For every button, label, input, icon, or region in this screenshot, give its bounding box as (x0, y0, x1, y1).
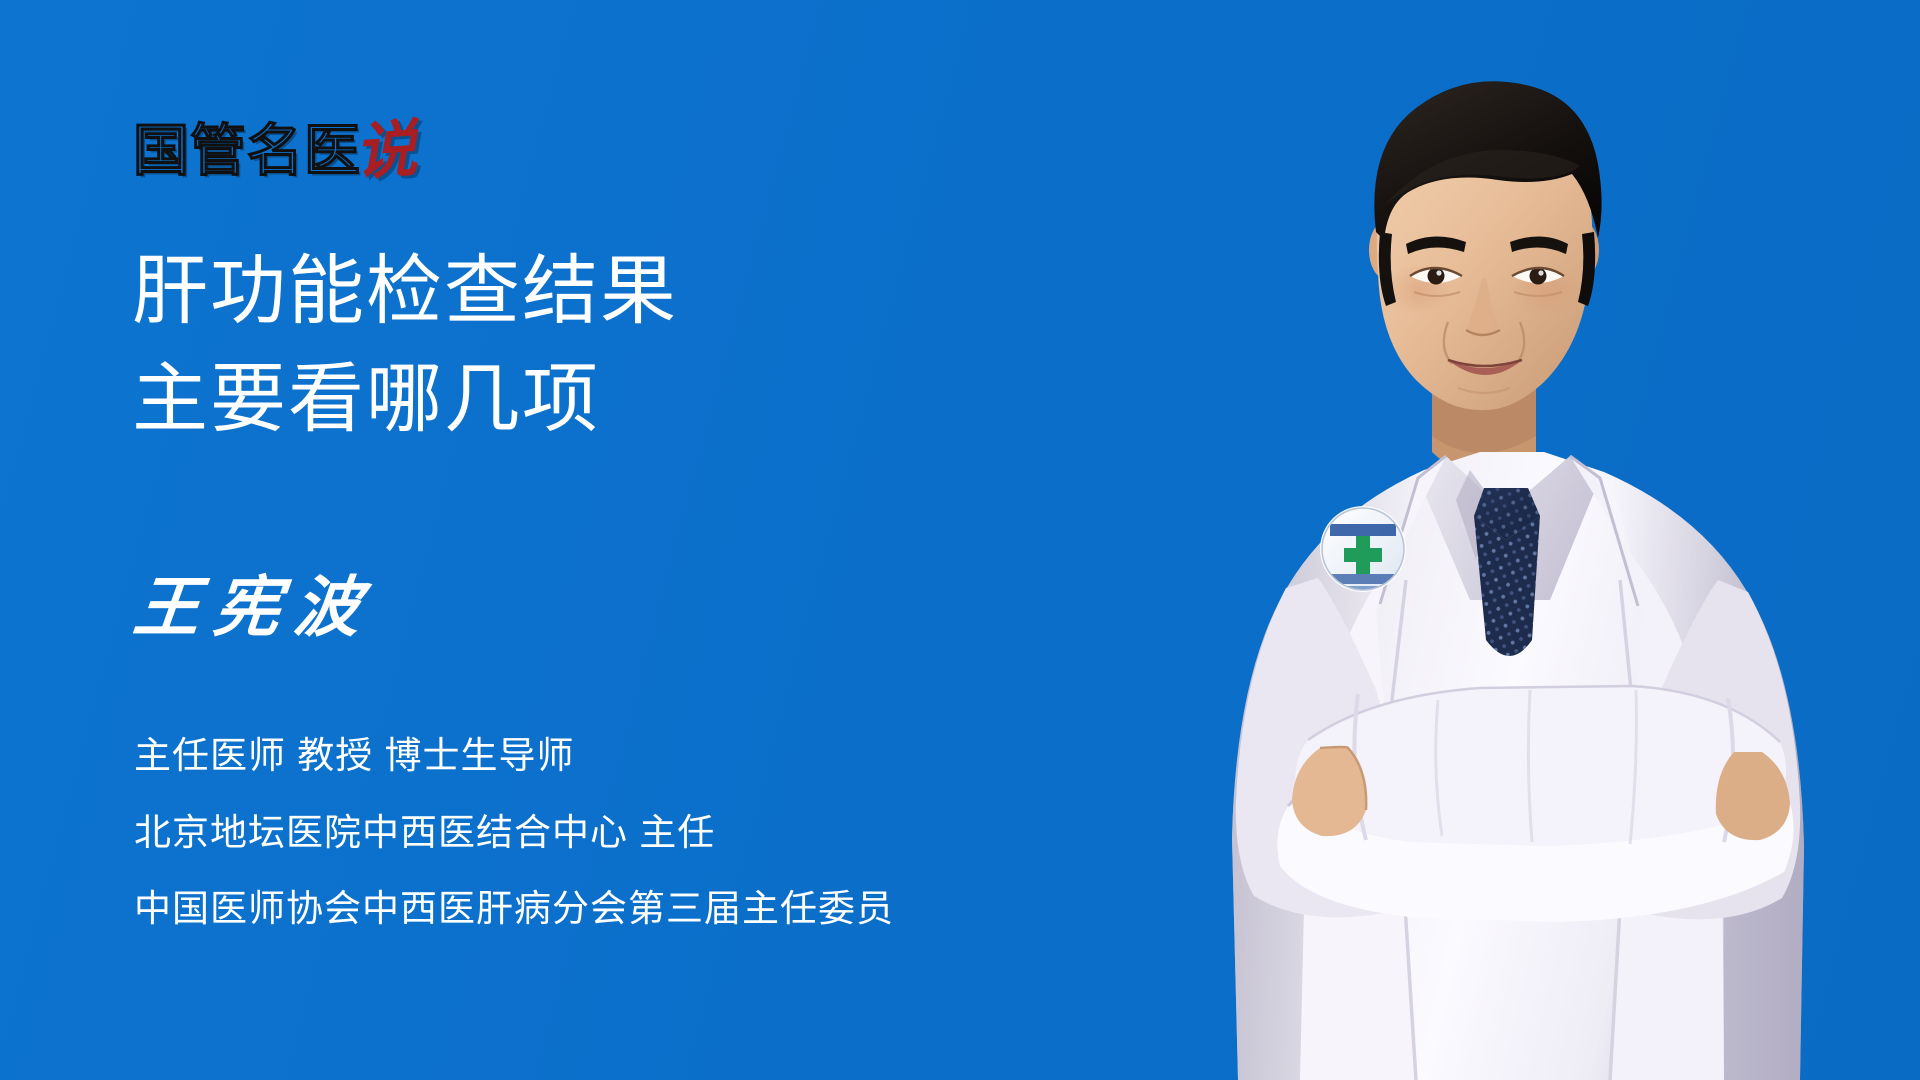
headline-line-1: 肝功能检查结果 (132, 238, 1112, 346)
video-title-card: 国管名医 说 肝功能检查结果 主要看哪几项 王宪波 主任医师 教授 博士生导师 … (0, 0, 1920, 1080)
doctor-portrait-illustration (1180, 0, 1920, 1080)
credential-line-3: 中国医师协会中西医肝病分会第三届主任委员 (134, 871, 1194, 948)
brand-logo-main-text: 国管名医 (133, 124, 363, 180)
headline: 肝功能检查结果 主要看哪几项 (132, 238, 1112, 454)
credential-line-2: 北京地坛医院中西医结合中心 主任 (134, 795, 1194, 872)
headline-line-2: 主要看哪几项 (132, 346, 1112, 454)
brand-logo-accent-text: 说 (353, 118, 419, 184)
credential-line-1: 主任医师 教授 博士生导师 (134, 718, 1194, 795)
brand-logo: 国管名医 说 (133, 108, 419, 180)
doctor-portrait (1180, 0, 1920, 1080)
doctor-name: 王宪波 (131, 574, 378, 640)
doctor-credentials: 主任医师 教授 博士生导师 北京地坛医院中西医结合中心 主任 中国医师协会中西医… (134, 718, 1194, 948)
